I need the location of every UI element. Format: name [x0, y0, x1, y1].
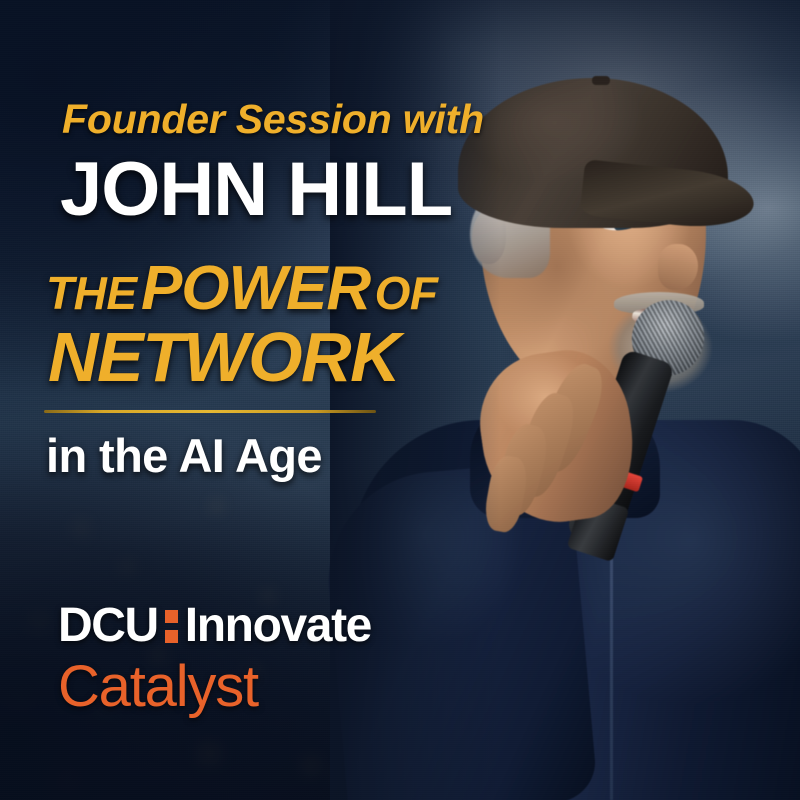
colon-square-bottom	[165, 630, 178, 643]
headline-line-1: THE POWER OF	[46, 258, 438, 320]
headline-line-2: NETWORK	[48, 322, 399, 392]
dcu-innovate-catalyst-logo: DCU Innovate Catalyst	[58, 602, 371, 716]
headline-word-of: OF	[375, 267, 438, 319]
text-block: Founder Session with JOHN HILL THE POWER…	[0, 0, 470, 800]
logo-catalyst: Catalyst	[58, 658, 371, 716]
headline-word-power: POWER	[141, 254, 370, 323]
promo-poster: Founder Session with JOHN HILL THE POWER…	[0, 0, 800, 800]
colon-square-top	[165, 610, 178, 623]
gold-divider	[44, 410, 376, 413]
kicker-text: Founder Session with	[62, 96, 484, 143]
tagline-text: in the AI Age	[46, 432, 322, 479]
speaker-name: JOHN HILL	[60, 152, 452, 228]
logo-primary-row: DCU Innovate	[58, 602, 371, 650]
cap-button	[592, 76, 610, 85]
headline-word-the: THE	[46, 267, 137, 319]
logo-dcu: DCU	[58, 602, 158, 650]
double-square-colon-icon	[165, 610, 178, 643]
logo-innovate: Innovate	[185, 602, 371, 650]
